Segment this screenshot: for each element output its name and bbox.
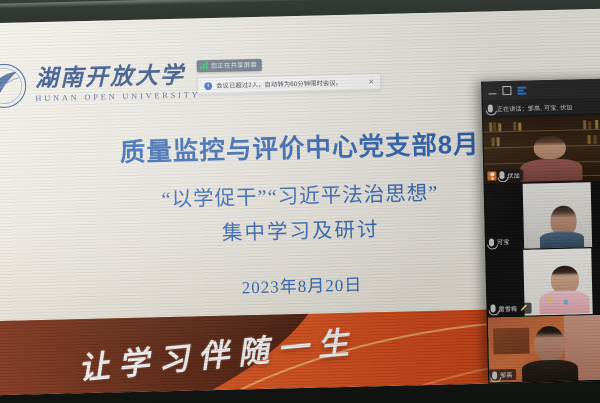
bezel-highlight — [0, 0, 600, 9]
host-badge-icon — [487, 171, 496, 180]
participant-tile[interactable]: ⋯ 雷雪梅 — [486, 247, 600, 317]
minimize-icon[interactable] — [488, 87, 496, 94]
university-logo: 湖南开放大学 HUNAN OPEN UNIVERSITY — [0, 58, 201, 109]
microphone-icon — [490, 304, 495, 312]
logo-text: 湖南开放大学 HUNAN OPEN UNIVERSITY — [35, 63, 201, 103]
participant-name: 可宝 — [497, 237, 510, 246]
participant-name: 雷雪梅 — [498, 303, 517, 312]
microphone-icon — [488, 104, 493, 112]
participant-name: 伏加 — [507, 170, 520, 179]
microphone-icon — [492, 371, 497, 379]
maximize-icon[interactable] — [502, 86, 511, 95]
speaking-status-label: 正在讲话：邹高, 可宝, 伏加 — [497, 102, 573, 113]
participant-name: 邹高 — [500, 370, 513, 379]
participant-name-bar: 邹高 — [489, 369, 517, 381]
participant-tiles: 伏加 可宝 — [483, 114, 600, 383]
participant-tile[interactable]: 邹高 — [488, 314, 600, 384]
participant-tile[interactable]: 伏加 — [483, 114, 600, 184]
logo-name-en: HUNAN OPEN UNIVERSITY — [35, 91, 200, 103]
annotate-pen-icon[interactable] — [520, 304, 527, 311]
screen-share-badge[interactable]: 您正在共享屏幕 — [197, 58, 262, 72]
notification-area: 您正在共享屏幕 i 会议已超过2人，自动转为60分钟限时会议。 ✕ — [197, 52, 388, 94]
participant-name-bar: 可宝 — [486, 236, 514, 248]
participant-name-bar: 雷雪梅 — [487, 302, 531, 314]
close-icon[interactable]: ✕ — [368, 78, 374, 86]
participant-name-bar: 伏加 — [484, 169, 524, 181]
microphone-icon — [489, 238, 494, 246]
meeting-video-panel: 正在讲话：邹高, 可宝, 伏加 — [481, 78, 600, 383]
university-crest-icon — [0, 62, 28, 109]
share-badge-label: 您正在共享屏幕 — [211, 59, 257, 69]
notification-message: 会议已超过2人，自动转为60分钟限时会议。 — [216, 77, 364, 89]
logo-name-cn: 湖南开放大学 — [35, 63, 201, 90]
screenshot-stage: 湖南开放大学 HUNAN OPEN UNIVERSITY 您正在共享屏幕 i 会… — [0, 0, 600, 403]
participant-tile[interactable]: 可宝 — [485, 181, 600, 251]
microphone-icon — [499, 171, 504, 179]
info-icon: i — [204, 81, 212, 89]
grid-layout-icon[interactable] — [517, 86, 526, 94]
monitor-screen: 湖南开放大学 HUNAN OPEN UNIVERSITY 您正在共享屏幕 i 会… — [0, 9, 600, 396]
signal-bars-icon — [200, 61, 208, 69]
